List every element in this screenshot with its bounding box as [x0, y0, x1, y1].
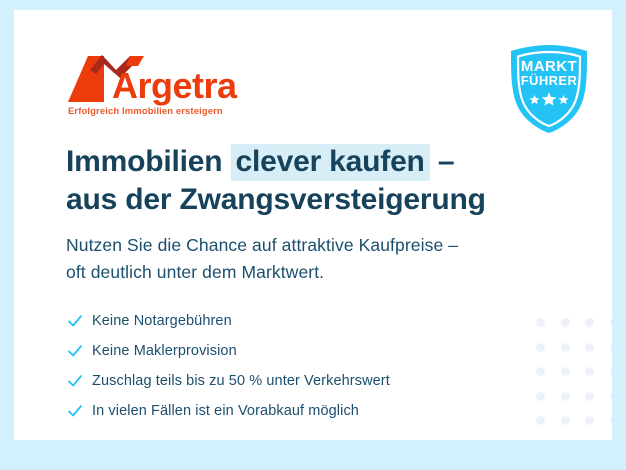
subheadline-line2: oft deutlich unter dem Marktwert.: [66, 262, 324, 282]
headline: Immobilien clever kaufen – aus der Zwang…: [66, 143, 536, 220]
list-item-label: In vielen Fällen ist ein Vorabkauf mögli…: [92, 403, 359, 419]
dot: [561, 392, 570, 401]
logo-tagline: Erfolgreich Immobilien ersteigern: [68, 106, 223, 117]
dot: [610, 367, 613, 376]
argetra-logo: Argetra Erfolgreich Immobilien ersteiger…: [68, 54, 268, 124]
check-icon: [66, 372, 92, 390]
dot: [585, 367, 594, 376]
headline-line2: aus der Zwangsversteigerung: [66, 183, 486, 216]
subheadline-line1: Nutzen Sie die Chance auf attraktive Kau…: [66, 235, 458, 255]
dot: [561, 318, 570, 327]
dot-grid-decoration: [518, 302, 612, 440]
dot: [536, 318, 545, 327]
dot: [561, 416, 570, 425]
dot: [536, 416, 545, 425]
logo-wordmark: Argetra: [112, 68, 237, 104]
dot: [561, 367, 570, 376]
promo-card: Argetra Erfolgreich Immobilien ersteiger…: [14, 10, 612, 440]
headline-highlight: clever kaufen: [231, 144, 430, 181]
list-item: In vielen Fällen ist ein Vorabkauf mögli…: [66, 396, 516, 426]
check-icon: [66, 342, 92, 360]
shield-badge-icon: [503, 43, 595, 135]
benefit-list: Keine Notargebühren Keine Maklerprovisio…: [66, 306, 516, 426]
list-item-label: Keine Maklerprovision: [92, 343, 237, 359]
promo-banner: Argetra Erfolgreich Immobilien ersteiger…: [0, 0, 626, 470]
list-item: Keine Notargebühren: [66, 306, 516, 336]
dot: [610, 343, 613, 352]
check-icon: [66, 402, 92, 420]
dot: [585, 343, 594, 352]
dot: [610, 392, 613, 401]
list-item-label: Zuschlag teils bis zu 50 % unter Verkehr…: [92, 373, 390, 389]
list-item-label: Keine Notargebühren: [92, 313, 232, 329]
headline-line1-before: Immobilien: [66, 145, 231, 178]
dot: [536, 367, 545, 376]
dot: [585, 318, 594, 327]
market-leader-badge: MARKT FÜHRER: [503, 43, 595, 135]
dot: [585, 392, 594, 401]
dot: [536, 392, 545, 401]
dot: [610, 416, 613, 425]
dot: [561, 343, 570, 352]
dot: [536, 343, 545, 352]
subheadline: Nutzen Sie die Chance auf attraktive Kau…: [66, 232, 546, 286]
check-icon: [66, 312, 92, 330]
dot: [610, 318, 613, 327]
list-item: Zuschlag teils bis zu 50 % unter Verkehr…: [66, 366, 516, 396]
list-item: Keine Maklerprovision: [66, 336, 516, 366]
dot: [585, 416, 594, 425]
headline-line1-after: –: [430, 145, 455, 178]
